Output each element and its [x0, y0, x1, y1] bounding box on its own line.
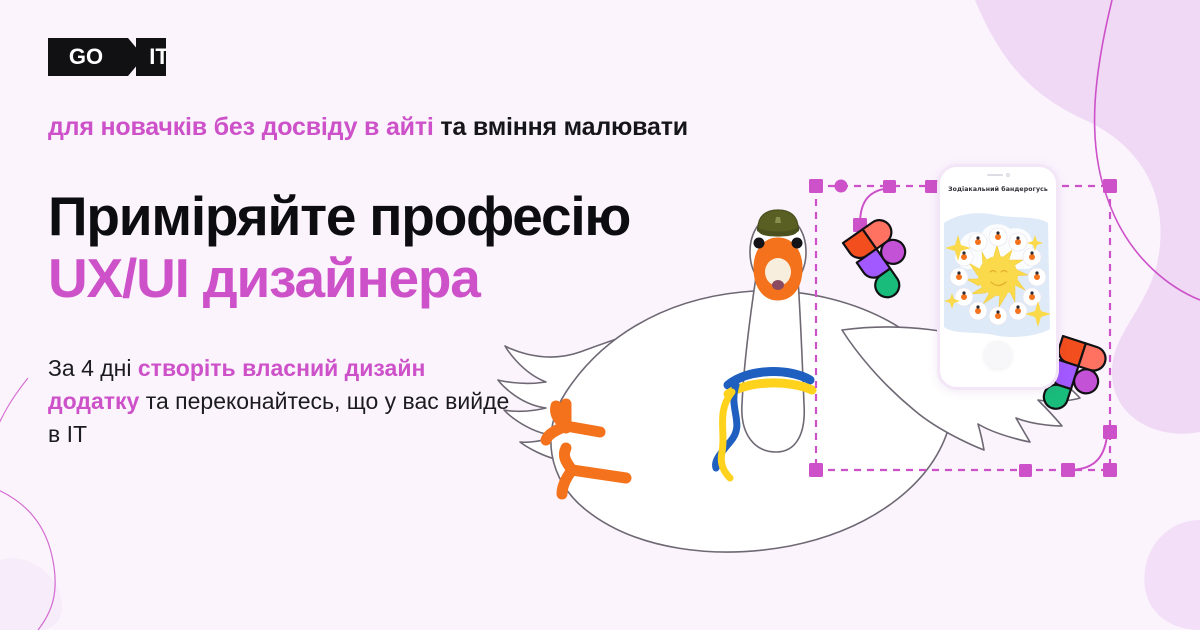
lede-part-one: За 4 дні [48, 355, 138, 381]
headline-line-one: Примiряйте професiю [48, 185, 630, 247]
phone-camera-icon [1006, 173, 1010, 177]
handle-anchor-round[interactable] [835, 180, 848, 193]
lede-text: За 4 дні створіть власний дизайн додатку… [48, 352, 518, 452]
goit-logo[interactable]: GO IT [48, 38, 166, 76]
logo-go-text: GO [69, 44, 103, 69]
handle-top-right[interactable] [1103, 179, 1117, 193]
headline-line-two: UX/UI дизайнера [48, 247, 748, 309]
handle-bottom-left[interactable] [809, 463, 823, 477]
eyebrow-plain: та вміння малювати [434, 113, 688, 141]
copy-block: для новачків без досвіду в айті та вмінн… [48, 112, 748, 452]
phone-app-title: Зодіакальний бандерогусь [940, 186, 1056, 193]
phone-home-button[interactable] [984, 341, 1012, 369]
logo-it-text: IT [149, 44, 166, 69]
eyebrow-accent: для новачків без досвіду в айті [48, 113, 434, 141]
handle-bottom-right[interactable] [1103, 463, 1117, 477]
handle-bottom-mid[interactable] [1019, 464, 1032, 477]
handle-top-left[interactable] [809, 179, 823, 193]
handle-top-mid[interactable] [883, 180, 896, 193]
phone-speaker-icon [987, 174, 1003, 176]
eyebrow-text: для новачків без досвіду в айті та вмінн… [48, 112, 748, 143]
banner-root: GO IT [0, 0, 1200, 630]
phone-mockup[interactable]: Зодіакальний бандерогусь [937, 164, 1059, 390]
phone-notch [972, 169, 1024, 180]
page-title: Примiряйте професiюUX/UI дизайнера [48, 185, 748, 309]
handle-right-mid[interactable] [1103, 425, 1117, 439]
phone-shell: Зодіакальний бандерогусь [937, 164, 1059, 390]
handle-control-lower[interactable] [1061, 463, 1075, 477]
goit-logo-mark: GO IT [48, 38, 166, 76]
